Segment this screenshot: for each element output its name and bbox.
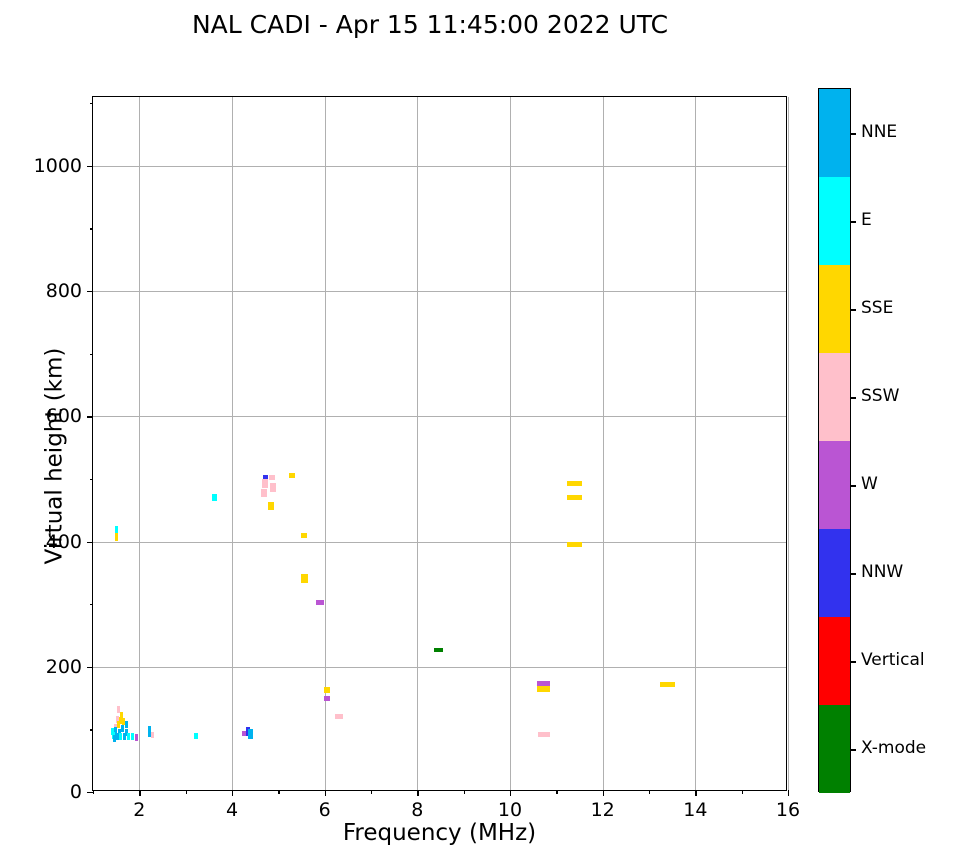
colorbar-tick [850, 485, 856, 487]
data-mark [270, 483, 276, 492]
data-mark [125, 721, 128, 728]
y-axis-tick-label: 0 [70, 781, 82, 803]
gridline-horizontal [93, 542, 786, 543]
data-mark [537, 686, 550, 692]
data-mark [117, 721, 120, 728]
colorbar-tick [850, 309, 856, 311]
y-axis-tick [87, 542, 93, 543]
data-mark [289, 473, 295, 478]
data-mark [434, 648, 443, 652]
y-axis-tick [87, 416, 93, 417]
y-axis-tick [87, 166, 93, 167]
x-axis-tick [417, 790, 418, 796]
data-mark [117, 706, 120, 713]
y-axis-tick [87, 291, 93, 292]
x-axis-label: Frequency (MHz) [92, 820, 787, 846]
data-mark [115, 532, 118, 541]
gridline-vertical [695, 97, 696, 790]
colorbar-label-nnw: NNW [861, 562, 903, 582]
gridline-vertical [325, 97, 326, 790]
x-axis-tick [603, 790, 604, 796]
colorbar-label-sse: SSE [861, 298, 893, 318]
colorbar-label-e: E [861, 210, 872, 230]
data-mark [268, 502, 274, 510]
data-mark [242, 731, 247, 736]
colorbar-tick [850, 661, 856, 663]
y-axis-label: Virtual height (km) [42, 109, 68, 804]
colorbar-label-nne: NNE [861, 122, 897, 142]
gridline-vertical [510, 97, 511, 790]
x-axis-tick-label: 2 [133, 799, 145, 821]
data-mark [301, 533, 307, 538]
x-axis-tick [510, 790, 511, 796]
y-axis-minor-tick [90, 479, 94, 480]
x-axis-minor-tick [556, 790, 557, 794]
data-mark [324, 696, 330, 701]
data-mark [194, 733, 198, 739]
data-mark [116, 716, 119, 723]
x-axis-tick-label: 16 [776, 799, 800, 821]
data-mark [660, 682, 676, 687]
x-axis-tick-label: 10 [498, 799, 522, 821]
data-mark [120, 712, 123, 719]
data-mark [115, 526, 118, 533]
data-mark [148, 726, 151, 737]
data-mark [301, 574, 307, 583]
x-axis-minor-tick [649, 790, 650, 794]
data-mark [125, 729, 128, 736]
colorbar [818, 88, 851, 792]
y-axis-tick [87, 792, 93, 793]
y-axis-tick [87, 667, 93, 668]
x-axis-minor-tick [186, 790, 187, 794]
data-mark [111, 728, 114, 735]
gridline-horizontal [93, 667, 786, 668]
colorbar-tick [850, 573, 856, 575]
x-axis-tick [695, 790, 696, 796]
data-mark [122, 718, 125, 725]
gridlines [93, 97, 786, 790]
data-mark [123, 733, 126, 740]
colorbar-label-w: W [861, 474, 878, 494]
data-mark [537, 681, 550, 687]
gridline-horizontal [93, 166, 786, 167]
data-mark [263, 475, 269, 480]
ionogram-figure: NAL CADI - Apr 15 11:45:00 2022 UTC 2468… [0, 0, 958, 857]
colorbar-tick [850, 221, 856, 223]
gridline-vertical [417, 97, 418, 790]
x-axis-minor-tick [278, 790, 279, 794]
colorbar-segment-ssw [819, 353, 850, 441]
x-axis-tick-label: 6 [319, 799, 331, 821]
gridline-vertical [232, 97, 233, 790]
x-axis-tick-label: 4 [226, 799, 238, 821]
data-mark [324, 687, 330, 693]
colorbar-tick [850, 397, 856, 399]
gridline-horizontal [93, 291, 786, 292]
x-axis-tick-label: 8 [411, 799, 423, 821]
data-mark [118, 729, 121, 736]
colorbar-label-ssw: SSW [861, 386, 899, 406]
colorbar-segment-w [819, 441, 850, 529]
data-mark [151, 732, 154, 738]
data-mark [316, 600, 323, 605]
data-mark [335, 714, 343, 719]
colorbar-tick [850, 749, 856, 751]
data-mark [116, 733, 119, 740]
x-axis-minor-tick [742, 790, 743, 794]
gridline-horizontal [93, 416, 786, 417]
gridline-vertical [139, 97, 140, 790]
data-marks-layer [93, 97, 786, 790]
data-mark [119, 733, 122, 740]
data-mark [212, 494, 217, 501]
data-mark [121, 725, 124, 732]
x-axis-minor-tick [464, 790, 465, 794]
data-mark [248, 729, 252, 739]
data-mark [127, 733, 130, 740]
x-axis-minor-tick [371, 790, 372, 794]
y-axis-minor-tick [90, 604, 94, 605]
data-mark [567, 542, 582, 547]
plot-axes: 24681012141602004006008001000 [92, 96, 787, 791]
y-axis-minor-tick [90, 729, 94, 730]
colorbar-label-vertical: Vertical [861, 650, 925, 670]
x-axis-minor-tick [93, 790, 94, 794]
data-mark [246, 727, 250, 736]
data-mark [114, 724, 117, 731]
data-mark [538, 732, 550, 737]
data-mark [567, 481, 582, 486]
y-axis-minor-tick [90, 103, 94, 104]
y-axis-minor-tick [90, 354, 94, 355]
colorbar-segment-nnw [819, 529, 850, 617]
colorbar-segment-x-mode [819, 705, 850, 793]
data-mark [112, 732, 115, 739]
colorbar-segment-vertical [819, 617, 850, 705]
colorbar-tick [850, 133, 856, 135]
data-mark [261, 489, 267, 497]
gridline-vertical [788, 97, 789, 790]
colorbar-segment-sse [819, 265, 850, 353]
page-title: NAL CADI - Apr 15 11:45:00 2022 UTC [0, 10, 860, 39]
data-mark [135, 734, 138, 741]
data-mark [113, 735, 116, 742]
colorbar-segment-nne [819, 89, 850, 177]
data-mark [567, 495, 582, 500]
data-mark [114, 727, 117, 736]
y-axis-minor-tick [90, 228, 94, 229]
data-mark [262, 479, 268, 488]
colorbar-label-x-mode: X-mode [861, 738, 926, 758]
x-axis-tick [325, 790, 326, 796]
x-axis-tick [232, 790, 233, 796]
x-axis-tick-label: 14 [683, 799, 707, 821]
gridline-vertical [603, 97, 604, 790]
x-axis-tick-label: 12 [591, 799, 615, 821]
data-mark [131, 733, 134, 740]
x-axis-tick [139, 790, 140, 796]
x-axis-tick [788, 790, 789, 796]
data-mark [119, 717, 122, 724]
colorbar-segment-e [819, 177, 850, 265]
data-mark [269, 475, 275, 480]
